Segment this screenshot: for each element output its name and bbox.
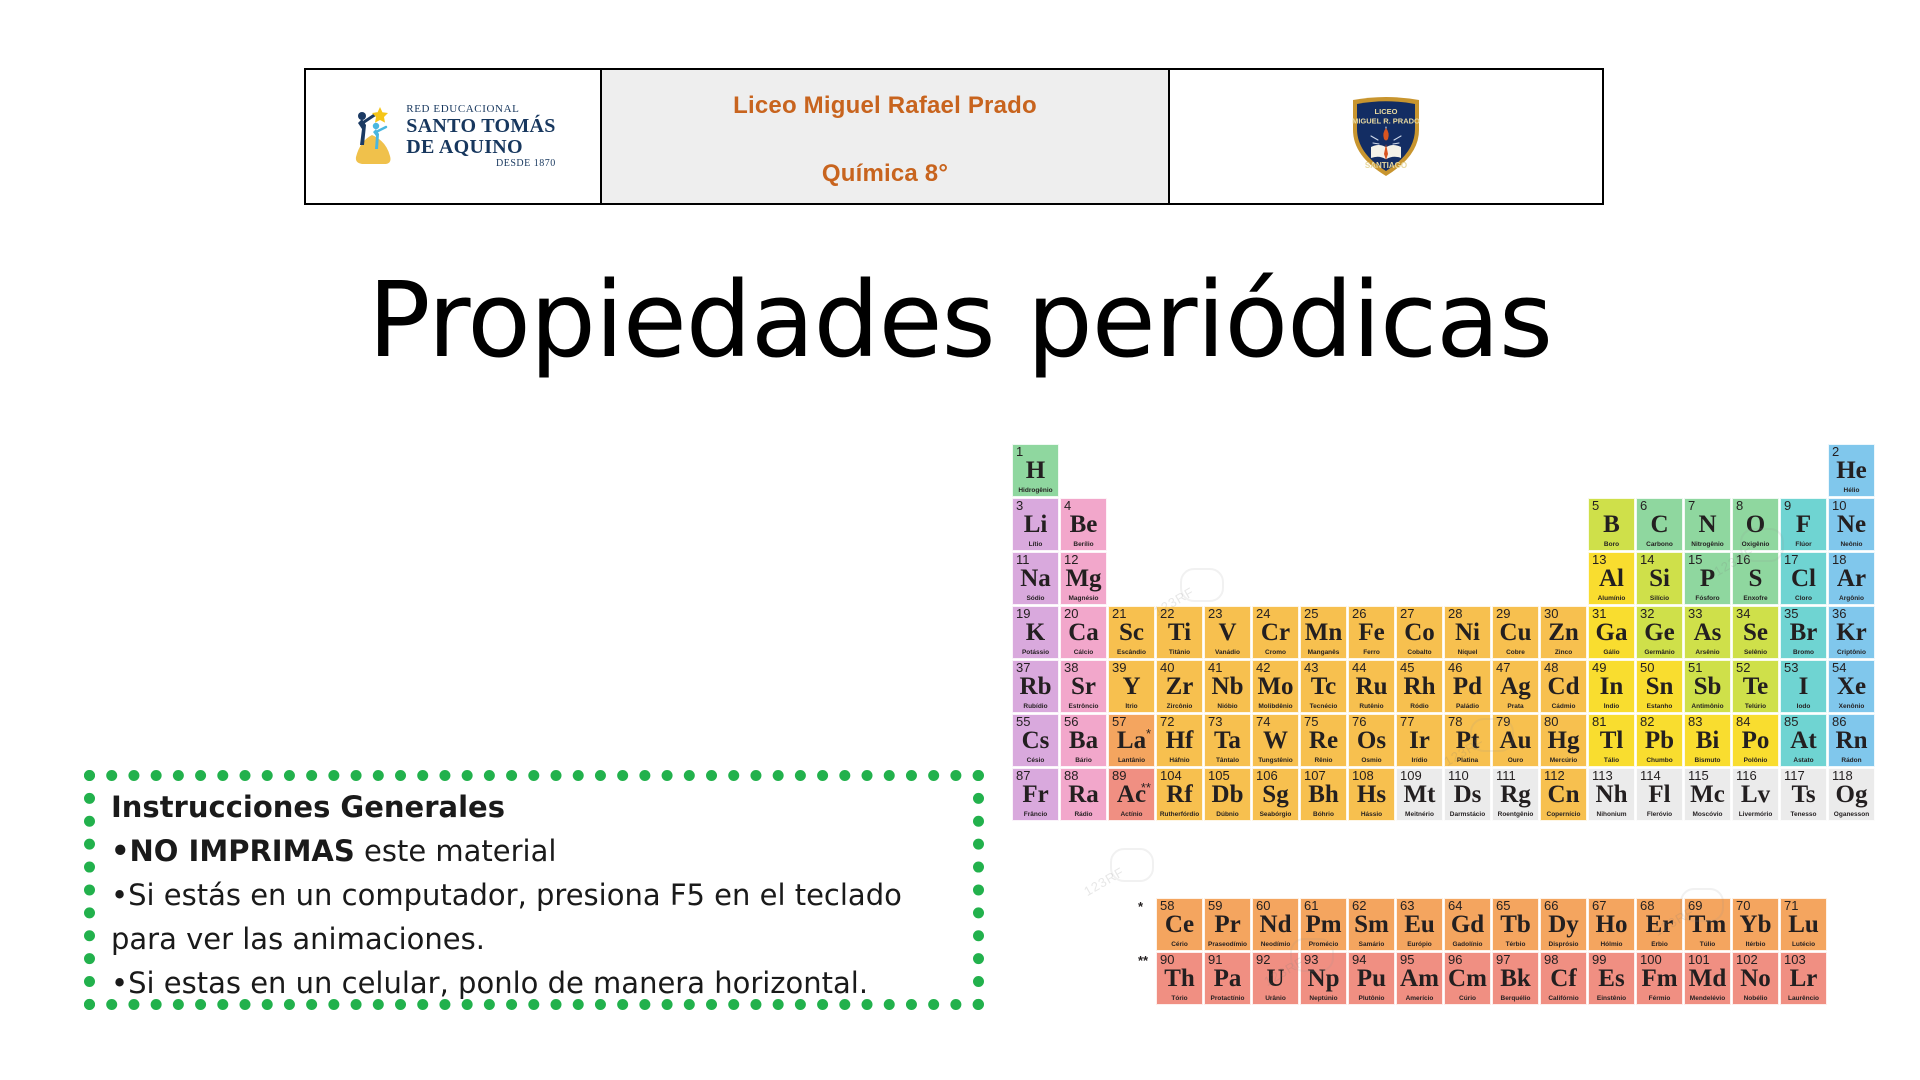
watermark-text: 123RF <box>1081 864 1127 899</box>
element-name: Rutênio <box>1349 703 1394 711</box>
element-name: Férmio <box>1637 995 1682 1003</box>
header-left-logo-cell: RED EDUCACIONAL SANTO TOMÁS DE AQUINO DE… <box>306 70 602 203</box>
element-cell-cs[interactable]: 55CsCésio <box>1012 714 1059 767</box>
element-symbol: Os <box>1349 727 1394 755</box>
element-cell-cm[interactable]: 96CmCúrio <box>1444 952 1491 1005</box>
element-name: Mercúrio <box>1541 757 1586 765</box>
element-cell-og[interactable]: 118OgOganesson <box>1828 768 1875 821</box>
element-symbol: Cs <box>1013 727 1058 755</box>
logo-line-de-aquino: DE AQUINO <box>406 137 555 157</box>
element-symbol: Tl <box>1589 727 1634 755</box>
element-name: Fleróvio <box>1637 811 1682 819</box>
element-symbol: Bh <box>1301 781 1346 809</box>
element-cell-pb[interactable]: 82PbChumbo <box>1636 714 1683 767</box>
element-name: Ítrio <box>1109 703 1154 711</box>
element-name: Tálio <box>1589 757 1634 765</box>
element-symbol: N <box>1685 511 1730 539</box>
element-cell-hf[interactable]: 72HfHáfnio <box>1156 714 1203 767</box>
element-name: Iodo <box>1781 703 1826 711</box>
element-symbol: Sb <box>1685 673 1730 701</box>
periodic-table-f-block: 58CeCério59PrPraseodímio60NdNeodímio61Pm… <box>1012 898 1914 1048</box>
element-symbol: I <box>1781 673 1826 701</box>
element-name: Zircônio <box>1157 703 1202 711</box>
element-name: Hólmio <box>1589 941 1634 949</box>
element-name: Nióbio <box>1205 703 1250 711</box>
element-name: Neptúnio <box>1301 995 1346 1003</box>
element-name: Dúbnio <box>1205 811 1250 819</box>
element-cell-pu[interactable]: 94PuPlutônio <box>1348 952 1395 1005</box>
element-name: Actínio <box>1109 811 1154 819</box>
santo-tomas-wordmark: RED EDUCACIONAL SANTO TOMÁS DE AQUINO DE… <box>406 104 555 169</box>
element-symbol: Cu <box>1493 619 1538 647</box>
element-cell-ar[interactable]: 18ArArgônio <box>1828 552 1875 605</box>
element-symbol: Dy <box>1541 911 1586 939</box>
element-name: Rádio <box>1061 811 1106 819</box>
element-cell-u[interactable]: 92UUrânio <box>1252 952 1299 1005</box>
element-cell-lr[interactable]: 103LrLaurêncio <box>1780 952 1827 1005</box>
school-name: Liceo Miguel Rafael Prado <box>733 92 1037 120</box>
element-cell-ag[interactable]: 47AgPrata <box>1492 660 1539 713</box>
element-cell-no[interactable]: 102NoNobélio <box>1732 952 1779 1005</box>
instruction-computador-line1: •Si estás en un computador, presiona F5 … <box>111 873 973 917</box>
element-cell-mn[interactable]: 25MnManganês <box>1300 606 1347 659</box>
element-symbol: Hf <box>1157 727 1202 755</box>
element-name: Mendelévio <box>1685 995 1730 1003</box>
element-cell-ni[interactable]: 28NiNíquel <box>1444 606 1491 659</box>
element-cell-nh[interactable]: 113NhNihonium <box>1588 768 1635 821</box>
element-symbol: Ar <box>1829 565 1874 593</box>
element-symbol: Sc <box>1109 619 1154 647</box>
element-name: Térbio <box>1493 941 1538 949</box>
element-symbol: Lv <box>1733 781 1778 809</box>
element-name: Gadolínio <box>1445 941 1490 949</box>
element-cell-er[interactable]: 68ErÉrbio <box>1636 898 1683 951</box>
logo-line-red-educacional: RED EDUCACIONAL <box>406 104 555 115</box>
element-symbol: Nb <box>1205 673 1250 701</box>
element-cell-rg[interactable]: 111RgRoentgênio <box>1492 768 1539 821</box>
element-cell-b[interactable]: 5BBoro <box>1588 498 1635 551</box>
element-name: Tungstênio <box>1253 757 1298 765</box>
santo-tomas-de-aquino-logo: RED EDUCACIONAL SANTO TOMÁS DE AQUINO DE… <box>342 104 555 169</box>
instructions-heading: Instrucciones Generales <box>111 785 973 829</box>
element-name: Rutherfórdio <box>1157 811 1202 819</box>
element-symbol: Rf <box>1157 781 1202 809</box>
element-cell-ba[interactable]: 56BaBário <box>1060 714 1107 767</box>
page-title: Propiedades periódicas <box>0 268 1920 372</box>
element-name: Irídio <box>1397 757 1442 765</box>
element-cell-p[interactable]: 15PFósforo <box>1684 552 1731 605</box>
element-symbol: Cn <box>1541 781 1586 809</box>
element-symbol: Pd <box>1445 673 1490 701</box>
element-cell-pt[interactable]: 78PtPlatina <box>1444 714 1491 767</box>
element-cell-ir[interactable]: 77IrIrídio <box>1396 714 1443 767</box>
element-cell-y[interactable]: 39YÍtrio <box>1108 660 1155 713</box>
element-cell-c[interactable]: 6CCarbono <box>1636 498 1683 551</box>
element-name: Bromo <box>1781 649 1826 657</box>
element-cell-sc[interactable]: 21ScEscândio <box>1108 606 1155 659</box>
element-cell-sn[interactable]: 50SnEstanho <box>1636 660 1683 713</box>
element-cell-be[interactable]: 4BeBerílio <box>1060 498 1107 551</box>
element-cell-ce[interactable]: 58CeCério <box>1156 898 1203 951</box>
element-symbol: Rh <box>1397 673 1442 701</box>
element-name: Neônio <box>1829 541 1874 549</box>
element-symbol: Nd <box>1253 911 1298 939</box>
element-cell-rn[interactable]: 86RnRádon <box>1828 714 1875 767</box>
instruction-bold-part: •NO IMPRIMAS <box>111 834 355 868</box>
element-cell-fr[interactable]: 87FrFrâncio <box>1012 768 1059 821</box>
element-symbol: Si <box>1637 565 1682 593</box>
element-name: Plutônio <box>1349 995 1394 1003</box>
element-symbol: Bi <box>1685 727 1730 755</box>
element-cell-hs[interactable]: 108HsHássio <box>1348 768 1395 821</box>
element-name: Cério <box>1157 941 1202 949</box>
element-symbol: Og <box>1829 781 1874 809</box>
element-cell-tb[interactable]: 65TbTérbio <box>1492 898 1539 951</box>
element-cell-fl[interactable]: 114FlFleróvio <box>1636 768 1683 821</box>
element-name: Estanho <box>1637 703 1682 711</box>
element-symbol: Te <box>1733 673 1778 701</box>
element-cell-al[interactable]: 13AlAlumínio <box>1588 552 1635 605</box>
element-cell-rh[interactable]: 45RhRódio <box>1396 660 1443 713</box>
element-cell-f[interactable]: 9FFlúor <box>1780 498 1827 551</box>
element-cell-cl[interactable]: 17ClCloro <box>1780 552 1827 605</box>
element-name: Ástato <box>1781 757 1826 765</box>
element-name: Enxofre <box>1733 595 1778 603</box>
element-cell-n[interactable]: 7NNitrogênio <box>1684 498 1731 551</box>
element-cell-bk[interactable]: 97BkBerquélio <box>1492 952 1539 1005</box>
element-symbol: Xe <box>1829 673 1874 701</box>
element-symbol: Tc <box>1301 673 1346 701</box>
element-symbol: Na <box>1013 565 1058 593</box>
element-cell-bi[interactable]: 83BiBismuto <box>1684 714 1731 767</box>
svg-text:MIGUEL R. PRADO: MIGUEL R. PRADO <box>1352 116 1420 125</box>
element-symbol: Db <box>1205 781 1250 809</box>
element-name: Tório <box>1157 995 1202 1003</box>
element-name: Tecnécio <box>1301 703 1346 711</box>
element-name: Flúor <box>1781 541 1826 549</box>
element-name: Silício <box>1637 595 1682 603</box>
element-cell-fm[interactable]: 100FmFérmio <box>1636 952 1683 1005</box>
element-cell-zr[interactable]: 40ZrZircônio <box>1156 660 1203 713</box>
element-cell-ge[interactable]: 32GeGermânio <box>1636 606 1683 659</box>
element-symbol: Fm <box>1637 965 1682 993</box>
element-cell-ac[interactable]: 89AcActínio** <box>1108 768 1155 821</box>
element-cell-tc[interactable]: 43TcTecnécio <box>1300 660 1347 713</box>
element-cell-pm[interactable]: 61PmPromécio <box>1300 898 1347 951</box>
element-name: Lantânio <box>1109 757 1154 765</box>
element-name: Chumbo <box>1637 757 1682 765</box>
element-symbol: Ra <box>1061 781 1106 809</box>
element-symbol: Ga <box>1589 619 1634 647</box>
element-cell-kr[interactable]: 36KrCriptônio <box>1828 606 1875 659</box>
element-symbol: Nh <box>1589 781 1634 809</box>
element-name: Fósforo <box>1685 595 1730 603</box>
element-name: Níquel <box>1445 649 1490 657</box>
header-banner: RED EDUCACIONAL SANTO TOMÁS DE AQUINO DE… <box>304 68 1604 205</box>
periodic-table: 1HHidrogênio2HeHélio3LiLítio4BeBerílio5B… <box>1012 444 1914 1074</box>
element-cell-tl[interactable]: 81TlTálio <box>1588 714 1635 767</box>
element-cell-mt[interactable]: 109MtMeitnério <box>1396 768 1443 821</box>
element-cell-ti[interactable]: 22TiTitânio <box>1156 606 1203 659</box>
element-cell-db[interactable]: 105DbDúbnio <box>1204 768 1251 821</box>
svg-text:SANTIAGO: SANTIAGO <box>1365 161 1407 170</box>
element-symbol: Y <box>1109 673 1154 701</box>
element-symbol: Es <box>1589 965 1634 993</box>
element-symbol: At <box>1781 727 1826 755</box>
element-cell-nd[interactable]: 60NdNeodímio <box>1252 898 1299 951</box>
element-name: Cádmio <box>1541 703 1586 711</box>
element-name: Telúrio <box>1733 703 1778 711</box>
element-symbol: Cl <box>1781 565 1826 593</box>
element-symbol: Ds <box>1445 781 1490 809</box>
element-name: Rádon <box>1829 757 1874 765</box>
element-cell-ta[interactable]: 73TaTântalo <box>1204 714 1251 767</box>
element-name: Potássio <box>1013 649 1058 657</box>
element-symbol: Ta <box>1205 727 1250 755</box>
element-symbol: V <box>1205 619 1250 647</box>
element-cell-se[interactable]: 34SeSelênio <box>1732 606 1779 659</box>
element-name: Paládio <box>1445 703 1490 711</box>
element-cell-h[interactable]: 1HHidrogênio <box>1012 444 1059 497</box>
element-cell-dy[interactable]: 66DyDisprósio <box>1540 898 1587 951</box>
element-name: Tântalo <box>1205 757 1250 765</box>
element-symbol: Zr <box>1157 673 1202 701</box>
element-name: Gálio <box>1589 649 1634 657</box>
instruction-computador-line2: para ver las animaciones. <box>111 917 973 961</box>
element-name: Bário <box>1061 757 1106 765</box>
element-cell-nb[interactable]: 41NbNióbio <box>1204 660 1251 713</box>
element-cell-sr[interactable]: 38SrEstrôncio <box>1060 660 1107 713</box>
element-cell-sm[interactable]: 62SmSamário <box>1348 898 1395 951</box>
element-symbol: Ge <box>1637 619 1682 647</box>
element-name: Xenônio <box>1829 703 1874 711</box>
element-name: Estrôncio <box>1061 703 1106 711</box>
element-name: Titânio <box>1157 649 1202 657</box>
element-cell-ne[interactable]: 10NeNeônio <box>1828 498 1875 551</box>
element-cell-s[interactable]: 16SEnxofre <box>1732 552 1779 605</box>
element-symbol: S <box>1733 565 1778 593</box>
element-cell-cf[interactable]: 98CfCalifórnio <box>1540 952 1587 1005</box>
element-cell-la[interactable]: 57LaLantânio* <box>1108 714 1155 767</box>
element-symbol: Th <box>1157 965 1202 993</box>
element-symbol: Ne <box>1829 511 1874 539</box>
element-name: Protactínio <box>1205 995 1250 1003</box>
element-cell-as[interactable]: 33AsArsênio <box>1684 606 1731 659</box>
element-cell-ho[interactable]: 67HoHólmio <box>1588 898 1635 951</box>
element-cell-mg[interactable]: 12MgMagnésio <box>1060 552 1107 605</box>
element-name: Antimônio <box>1685 703 1730 711</box>
element-name: Nitrogênio <box>1685 541 1730 549</box>
element-cell-cr[interactable]: 24CrCromo <box>1252 606 1299 659</box>
element-name: Moscóvio <box>1685 811 1730 819</box>
element-symbol: Ca <box>1061 619 1106 647</box>
header-title-cell: Liceo Miguel Rafael Prado Química 8° <box>602 70 1170 203</box>
element-cell-rb[interactable]: 37RbRubídio <box>1012 660 1059 713</box>
element-symbol: Tb <box>1493 911 1538 939</box>
element-symbol: Br <box>1781 619 1826 647</box>
element-symbol: Mc <box>1685 781 1730 809</box>
element-cell-mo[interactable]: 42MoMolibdênio <box>1252 660 1299 713</box>
subject-label: Química 8° <box>822 160 948 188</box>
element-cell-sb[interactable]: 51SbAntimônio <box>1684 660 1731 713</box>
element-symbol: Al <box>1589 565 1634 593</box>
element-cell-ga[interactable]: 31GaGálio <box>1588 606 1635 659</box>
element-symbol: Rb <box>1013 673 1058 701</box>
element-name: Cobalto <box>1397 649 1442 657</box>
element-name: Seabórgio <box>1253 811 1298 819</box>
element-cell-hg[interactable]: 80HgMercúrio <box>1540 714 1587 767</box>
element-symbol: Au <box>1493 727 1538 755</box>
element-cell-li[interactable]: 3LiLítio <box>1012 498 1059 551</box>
element-cell-br[interactable]: 35BrBromo <box>1780 606 1827 659</box>
element-symbol: Yb <box>1733 911 1778 939</box>
liceo-miguel-r-prado-shield-icon: LICEO MIGUEL R. PRADO SANTIAGO <box>1347 94 1425 180</box>
instructions-box: Instrucciones Generales •NO IMPRIMAS est… <box>84 770 984 1010</box>
element-cell-ra[interactable]: 88RaRádio <box>1060 768 1107 821</box>
element-cell-mc[interactable]: 115McMoscóvio <box>1684 768 1731 821</box>
element-name: Roentgênio <box>1493 811 1538 819</box>
element-cell-eu[interactable]: 63EuEurópio <box>1396 898 1443 951</box>
element-cell-ts[interactable]: 117TsTenesso <box>1780 768 1827 821</box>
element-cell-bh[interactable]: 107BhBóhrio <box>1300 768 1347 821</box>
element-cell-pd[interactable]: 46PdPaládio <box>1444 660 1491 713</box>
element-symbol: Sm <box>1349 911 1394 939</box>
element-symbol: Cm <box>1445 965 1490 993</box>
element-cell-lv[interactable]: 116LvLivermório <box>1732 768 1779 821</box>
element-symbol: Mn <box>1301 619 1346 647</box>
element-symbol: W <box>1253 727 1298 755</box>
element-symbol: Zn <box>1541 619 1586 647</box>
element-cell-cn[interactable]: 112CnCopernício <box>1540 768 1587 821</box>
element-name: Disprósio <box>1541 941 1586 949</box>
element-cell-np[interactable]: 93NpNeptúnio <box>1300 952 1347 1005</box>
element-cell-re[interactable]: 75ReRênio <box>1300 714 1347 767</box>
element-symbol: No <box>1733 965 1778 993</box>
element-symbol: Pt <box>1445 727 1490 755</box>
element-symbol: Rn <box>1829 727 1874 755</box>
element-symbol: Re <box>1301 727 1346 755</box>
element-name: Bóhrio <box>1301 811 1346 819</box>
element-cell-ca[interactable]: 20CaCálcio <box>1060 606 1107 659</box>
element-cell-v[interactable]: 23VVanádio <box>1204 606 1251 659</box>
element-symbol: Kr <box>1829 619 1874 647</box>
element-cell-es[interactable]: 99EsEinstênio <box>1588 952 1635 1005</box>
element-cell-o[interactable]: 8OOxigênio <box>1732 498 1779 551</box>
element-name: Zinco <box>1541 649 1586 657</box>
element-name: Ósmio <box>1349 757 1394 765</box>
element-name: Criptônio <box>1829 649 1874 657</box>
element-symbol: Sr <box>1061 673 1106 701</box>
element-cell-pa[interactable]: 91PaProtactínio <box>1204 952 1251 1005</box>
element-name: Selênio <box>1733 649 1778 657</box>
element-cell-au[interactable]: 79AuOuro <box>1492 714 1539 767</box>
element-name: Prata <box>1493 703 1538 711</box>
element-name: Vanádio <box>1205 649 1250 657</box>
element-name: Polônio <box>1733 757 1778 765</box>
element-cell-xe[interactable]: 54XeXenônio <box>1828 660 1875 713</box>
element-symbol: Rg <box>1493 781 1538 809</box>
element-cell-md[interactable]: 101MdMendelévio <box>1684 952 1731 1005</box>
element-cell-cu[interactable]: 29CuCobre <box>1492 606 1539 659</box>
element-name: Praseodímio <box>1205 941 1250 949</box>
element-name: Darmstácio <box>1445 811 1490 819</box>
element-name: Césio <box>1013 757 1058 765</box>
element-cell-si[interactable]: 14SiSilício <box>1636 552 1683 605</box>
element-cell-yb[interactable]: 70YbItérbio <box>1732 898 1779 951</box>
element-cell-in[interactable]: 49InÍndio <box>1588 660 1635 713</box>
element-symbol: Ni <box>1445 619 1490 647</box>
element-symbol: U <box>1253 965 1298 993</box>
element-name: Cálcio <box>1061 649 1106 657</box>
element-name: Índio <box>1589 703 1634 711</box>
element-symbol: Ba <box>1061 727 1106 755</box>
element-cell-sg[interactable]: 106SgSeabórgio <box>1252 768 1299 821</box>
element-name: Livermório <box>1733 811 1778 819</box>
element-name: Itérbio <box>1733 941 1778 949</box>
element-cell-co[interactable]: 27CoCobalto <box>1396 606 1443 659</box>
element-name: Laurêncio <box>1781 995 1826 1003</box>
element-name: Érbio <box>1637 941 1682 949</box>
element-name: Berílio <box>1061 541 1106 549</box>
element-cell-w[interactable]: 74WTungstênio <box>1252 714 1299 767</box>
element-symbol: F <box>1781 511 1826 539</box>
element-cell-na[interactable]: 11NaSódio <box>1012 552 1059 605</box>
element-name: Túlio <box>1685 941 1730 949</box>
element-cell-zn[interactable]: 30ZnZinco <box>1540 606 1587 659</box>
element-symbol: Li <box>1013 511 1058 539</box>
element-symbol: Se <box>1733 619 1778 647</box>
element-cell-gd[interactable]: 64GdGadolínio <box>1444 898 1491 951</box>
element-cell-os[interactable]: 76OsÓsmio <box>1348 714 1395 767</box>
element-symbol: As <box>1685 619 1730 647</box>
element-cell-cd[interactable]: 48CdCádmio <box>1540 660 1587 713</box>
element-cell-pr[interactable]: 59PrPraseodímio <box>1204 898 1251 951</box>
element-name: Frâncio <box>1013 811 1058 819</box>
element-cell-ds[interactable]: 110DsDarmstácio <box>1444 768 1491 821</box>
santo-tomas-emblem-icon <box>342 105 398 169</box>
element-cell-te[interactable]: 52TeTelúrio <box>1732 660 1779 713</box>
element-name: Rênio <box>1301 757 1346 765</box>
element-cell-he[interactable]: 2HeHélio <box>1828 444 1875 497</box>
element-cell-po[interactable]: 84PoPolônio <box>1732 714 1779 767</box>
element-symbol: Ag <box>1493 673 1538 701</box>
element-cell-fe[interactable]: 26FeFerro <box>1348 606 1395 659</box>
element-symbol: Am <box>1397 965 1442 993</box>
f-block-marker-actinide: ** <box>1138 956 1148 966</box>
element-cell-ru[interactable]: 44RuRutênio <box>1348 660 1395 713</box>
element-cell-am[interactable]: 95AmAmerício <box>1396 952 1443 1005</box>
element-cell-tm[interactable]: 69TmTúlio <box>1684 898 1731 951</box>
element-name: Boro <box>1589 541 1634 549</box>
element-name: Alumínio <box>1589 595 1634 603</box>
element-symbol: Hs <box>1349 781 1394 809</box>
element-series-marker: * <box>1146 729 1151 739</box>
element-cell-th[interactable]: 90ThTório <box>1156 952 1203 1005</box>
element-symbol: Ru <box>1349 673 1394 701</box>
element-cell-k[interactable]: 19KPotássio <box>1012 606 1059 659</box>
element-symbol: Co <box>1397 619 1442 647</box>
element-cell-at[interactable]: 85AtÁstato <box>1780 714 1827 767</box>
element-cell-lu[interactable]: 71LuLutécio <box>1780 898 1827 951</box>
element-cell-rf[interactable]: 104RfRutherfórdio <box>1156 768 1203 821</box>
element-symbol: Lu <box>1781 911 1826 939</box>
element-symbol: Eu <box>1397 911 1442 939</box>
logo-line-santo-tomas: SANTO TOMÁS <box>406 116 555 136</box>
instruction-rest-part: este material <box>355 834 557 868</box>
element-cell-i[interactable]: 53IIodo <box>1780 660 1827 713</box>
element-name: Copernício <box>1541 811 1586 819</box>
element-name: Ouro <box>1493 757 1538 765</box>
